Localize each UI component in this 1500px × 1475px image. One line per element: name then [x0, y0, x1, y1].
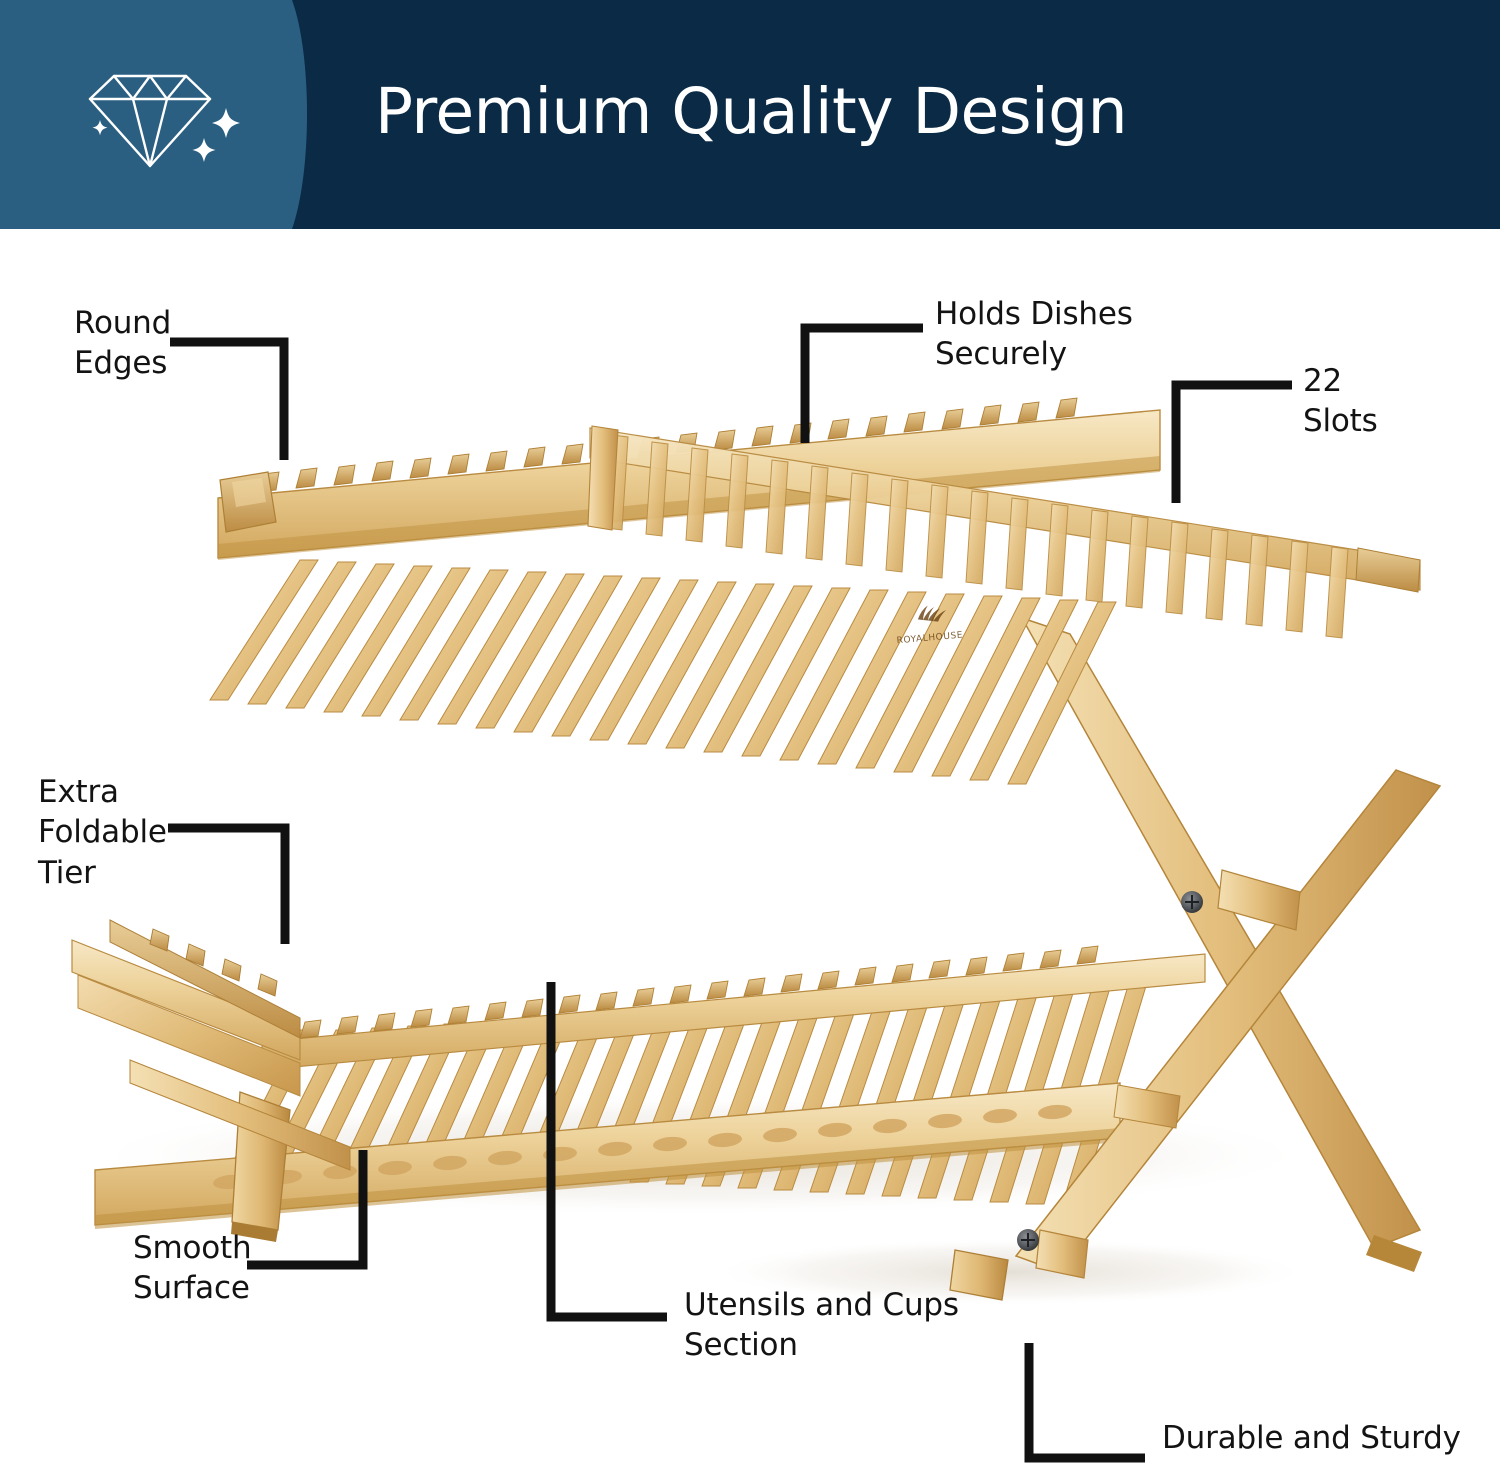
callout-label-extra-foldable: Extra Foldable Tier	[38, 772, 167, 893]
header-banner: Premium Quality Design	[0, 0, 1500, 229]
banner-title: Premium Quality Design	[375, 80, 1127, 143]
callout-label-smooth-surface: Smooth Surface	[133, 1228, 251, 1309]
upper-tier: ROYALHOUSE	[210, 398, 1420, 784]
upper-tier-slats	[210, 560, 1116, 784]
lower-tier-left-flap	[72, 920, 300, 1096]
callout-label-utensils-and-cups-section: Utensils and Cups Section	[684, 1285, 959, 1366]
diamond-icon	[78, 62, 248, 174]
upper-tier-left-endcap	[220, 472, 276, 532]
callout-label-round-edges: Round Edges	[74, 303, 171, 384]
callout-label-22-slots: 22 Slots	[1303, 361, 1378, 442]
callout-label-holds-dishes: Holds Dishes Securely	[935, 294, 1133, 375]
callout-label-durable-and-sturdy: Durable and Sturdy	[1162, 1418, 1461, 1458]
